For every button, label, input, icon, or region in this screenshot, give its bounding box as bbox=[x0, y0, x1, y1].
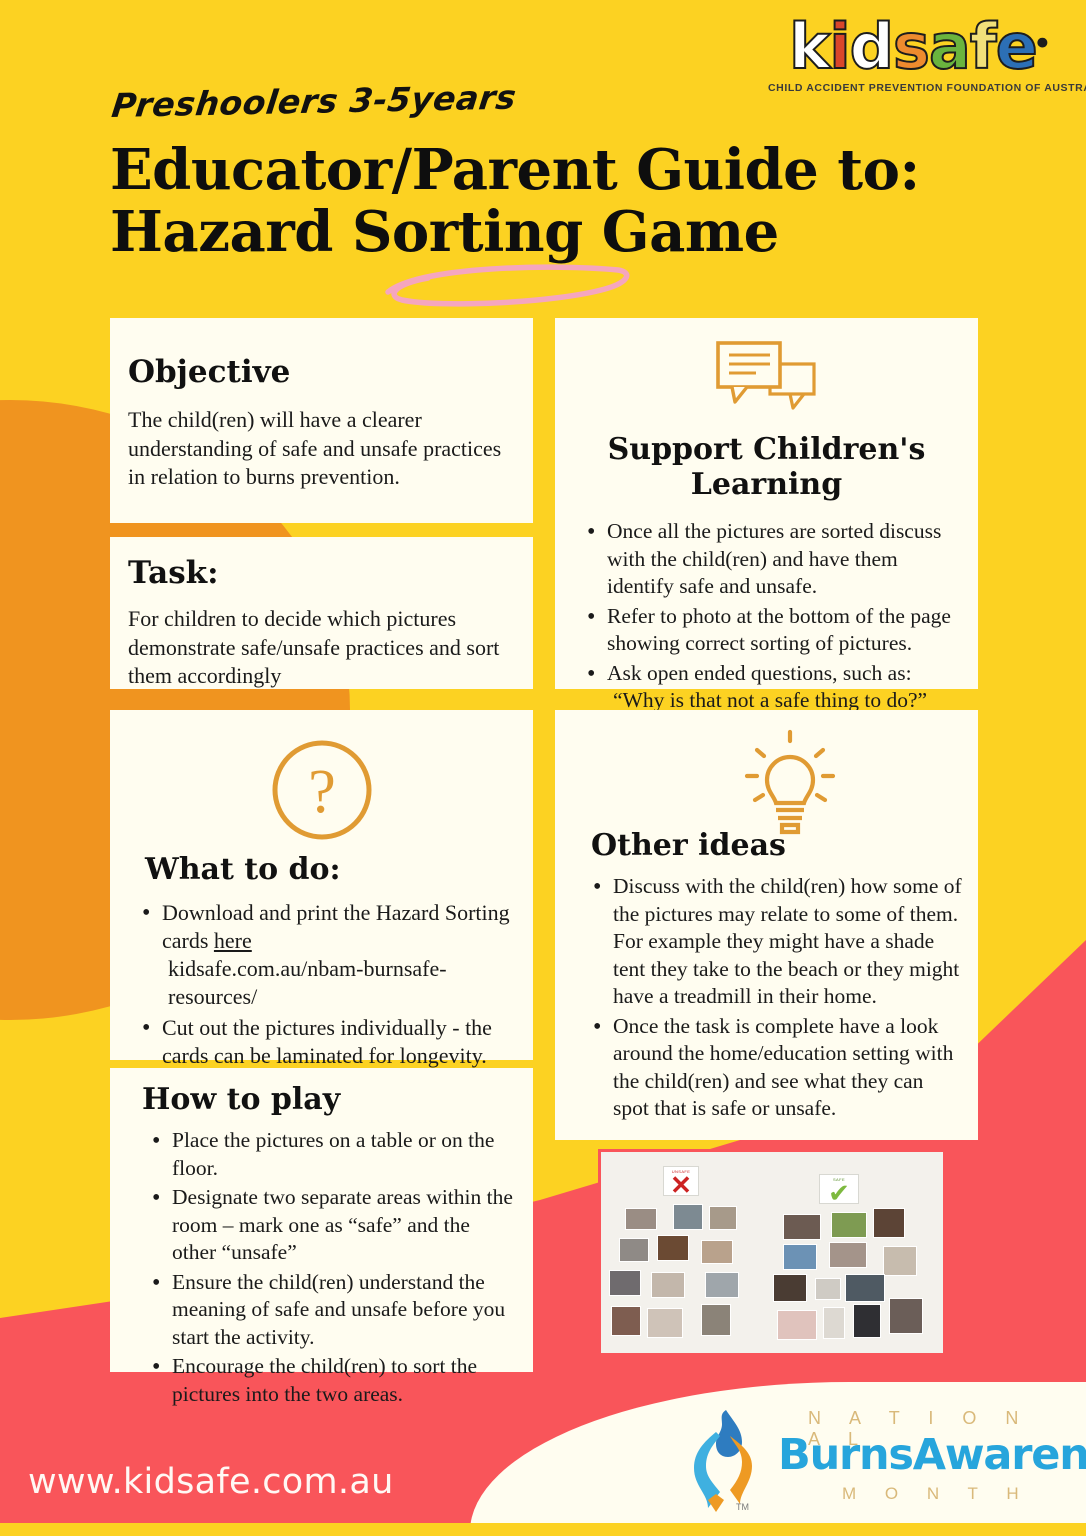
red-x-icon: ✕ bbox=[670, 1170, 692, 1200]
photo-card bbox=[619, 1238, 649, 1262]
list-item: Once the task is complete have a look ar… bbox=[589, 1013, 962, 1123]
photo-card bbox=[709, 1206, 737, 1230]
page-title-line-2: Hazard Sorting Game bbox=[110, 202, 950, 264]
photo-card bbox=[705, 1272, 739, 1298]
photo-card bbox=[783, 1214, 821, 1240]
photo-card bbox=[609, 1270, 641, 1296]
question-mark-circle-icon: ? bbox=[270, 738, 374, 842]
hazard-cards-url[interactable]: kidsafe.com.au/nbam-burnsafe-resources/ bbox=[162, 955, 515, 1011]
card-task: Task: For children to decide which pictu… bbox=[110, 537, 533, 689]
card-other-ideas: Other ideas Discuss with the child(ren) … bbox=[555, 710, 978, 1140]
list-item: Discuss with the child(ren) how some of … bbox=[589, 873, 962, 1011]
lightbulb-icon bbox=[731, 728, 841, 840]
list-item: Refer to photo at the bottom of the page… bbox=[583, 603, 962, 658]
photo-card bbox=[783, 1244, 817, 1270]
card-what-to-do: ? What to do: Download and print the Haz… bbox=[110, 710, 533, 1060]
flame-ribbon-icon bbox=[668, 1404, 778, 1516]
card-how-to-play: How to play Place the pictures on a tabl… bbox=[110, 1068, 533, 1372]
hazard-cards-here-link[interactable]: here bbox=[214, 928, 252, 953]
photo-card bbox=[815, 1278, 841, 1300]
photo-card bbox=[889, 1298, 923, 1334]
national-burns-awareness-month-logo: N A T I O N A L BurnsAwareness M O N T H… bbox=[660, 1398, 1060, 1518]
nbam-bottom-word: M O N T H bbox=[842, 1484, 1031, 1504]
pink-underline-squiggle bbox=[380, 258, 640, 310]
card-what-to-do-icon-wrap: ? bbox=[110, 738, 533, 842]
photo-card bbox=[823, 1307, 845, 1339]
speech-bubbles-icon bbox=[708, 340, 826, 418]
card-objective-body: The child(ren) will have a clearer under… bbox=[128, 406, 515, 492]
list-item: Encourage the child(ren) to sort the pic… bbox=[148, 1353, 517, 1408]
card-task-body: For children to decide which pictures de… bbox=[128, 605, 515, 691]
photo-card bbox=[829, 1242, 867, 1268]
safe-header-card: SAFE ✔ bbox=[819, 1174, 859, 1204]
nbam-trademark: TM bbox=[736, 1502, 749, 1512]
list-item: Place the pictures on a table or on the … bbox=[148, 1127, 517, 1182]
photo-card bbox=[673, 1204, 703, 1230]
sorted-cards-photo: UNSAFE ✕ SAFE ✔ bbox=[598, 1149, 946, 1356]
list-item: Designate two separate areas within the … bbox=[148, 1184, 517, 1267]
unsafe-header-card: UNSAFE ✕ bbox=[663, 1166, 699, 1196]
svg-text:?: ? bbox=[308, 758, 336, 826]
card-how-to-play-heading: How to play bbox=[142, 1082, 533, 1117]
list-item: Cut out the pictures individually - the … bbox=[138, 1014, 515, 1070]
photo-card bbox=[831, 1212, 867, 1238]
photo-card bbox=[611, 1306, 641, 1336]
list-item-text: Ask open ended questions, such as: bbox=[607, 661, 912, 685]
kidsafe-logo: kidsafe® CHILD ACCIDENT PREVENTION FOUND… bbox=[768, 16, 1068, 134]
photo-card bbox=[777, 1310, 817, 1340]
photo-card bbox=[657, 1235, 689, 1261]
card-support-heading: Support Children's Learning bbox=[555, 432, 978, 502]
page-title: Educator/Parent Guide to: Hazard Sorting… bbox=[110, 140, 950, 263]
photo-card bbox=[625, 1208, 657, 1230]
card-support-icon-wrap bbox=[555, 340, 978, 418]
photo-card bbox=[647, 1308, 683, 1338]
kidsafe-tagline: CHILD ACCIDENT PREVENTION FOUNDATION OF … bbox=[768, 82, 1068, 94]
card-how-to-play-bullet-list: Place the pictures on a table or on the … bbox=[148, 1127, 517, 1408]
photo-card bbox=[701, 1240, 733, 1264]
photo-card bbox=[853, 1304, 881, 1338]
photo-card bbox=[845, 1274, 885, 1302]
kidsafe-wordmark: kidsafe® bbox=[768, 16, 1068, 78]
background-bottom-yellow-strip bbox=[0, 1523, 1086, 1536]
photo-card bbox=[873, 1208, 905, 1238]
card-what-to-do-heading: What to do: bbox=[145, 852, 533, 887]
photo-card bbox=[701, 1304, 731, 1336]
card-what-to-do-bullet-list: Download and print the Hazard Sorting ca… bbox=[138, 899, 515, 1070]
card-task-heading: Task: bbox=[128, 555, 533, 591]
green-tick-icon: ✔ bbox=[828, 1179, 850, 1208]
nbam-main-word: BurnsAwareness bbox=[778, 1434, 1086, 1477]
photo-card bbox=[883, 1246, 917, 1276]
card-other-ideas-bullet-list: Discuss with the child(ren) how some of … bbox=[589, 873, 962, 1123]
website-url[interactable]: www.kidsafe.com.au bbox=[28, 1462, 394, 1502]
page-title-line-1: Educator/Parent Guide to: bbox=[110, 137, 920, 203]
registered-mark: ® bbox=[1037, 36, 1047, 49]
list-item: Download and print the Hazard Sorting ca… bbox=[138, 899, 515, 1012]
list-item: Once all the pictures are sorted discuss… bbox=[583, 518, 962, 601]
card-objective-heading: Objective bbox=[128, 354, 533, 390]
card-support-childrens-learning: Support Children's Learning Once all the… bbox=[555, 318, 978, 689]
list-item: Ensure the child(ren) understand the mea… bbox=[148, 1269, 517, 1352]
photo-table-surface: UNSAFE ✕ SAFE ✔ bbox=[601, 1152, 943, 1353]
photo-card bbox=[773, 1274, 807, 1302]
photo-card bbox=[651, 1272, 685, 1298]
card-objective: Objective The child(ren) will have a cle… bbox=[110, 318, 533, 523]
